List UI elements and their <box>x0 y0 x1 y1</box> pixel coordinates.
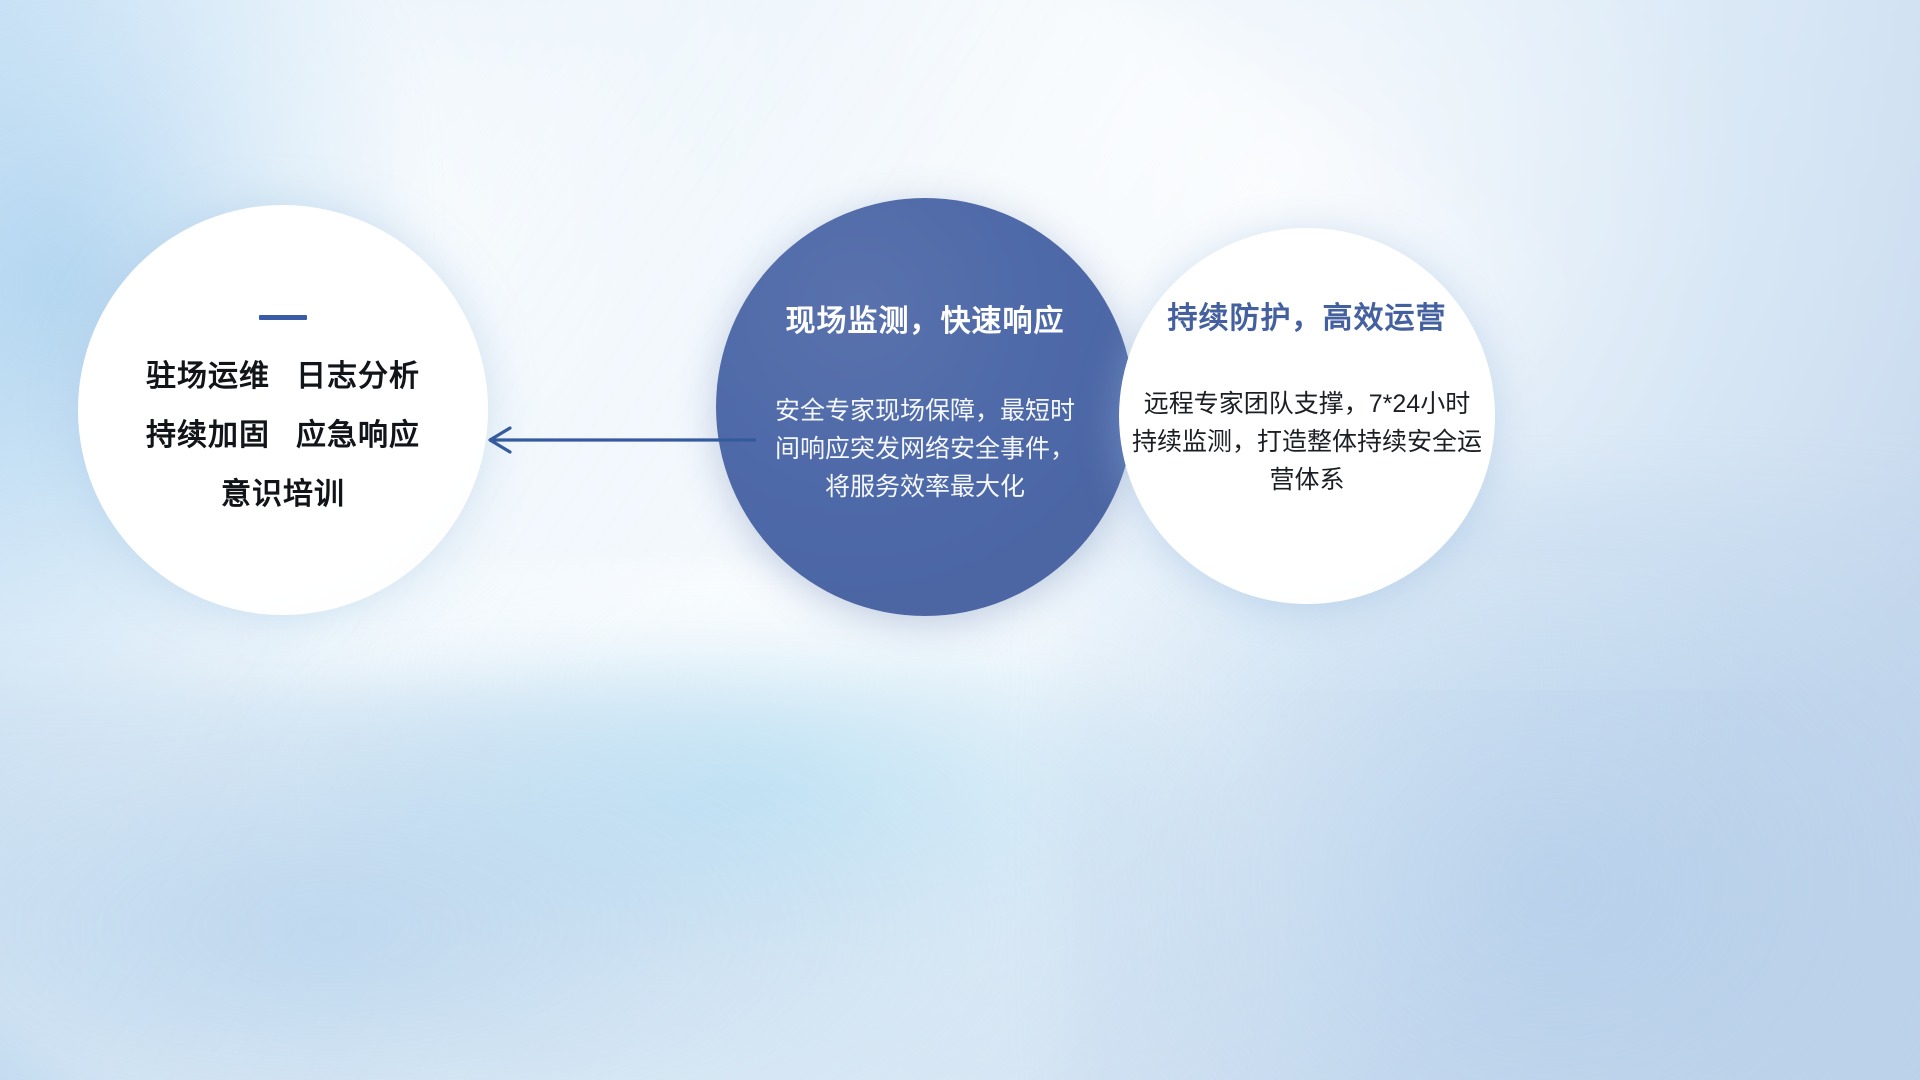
keyword: 应急响应 <box>296 419 420 452</box>
left-circle[interactable]: 驻场运维日志分析 持续加固应急响应 意识培训 <box>78 205 488 615</box>
list-item: 驻场运维日志分析 <box>146 362 420 392</box>
list-item: 意识培训 <box>146 480 420 510</box>
middle-circle-title: 现场监测，快速响应 <box>786 296 1065 340</box>
right-circle-title: 持续防护，高效运营 <box>1168 293 1447 337</box>
keyword: 日志分析 <box>296 360 420 393</box>
diagram-canvas: 现场监测，快速响应 安全专家现场保障，最短时间响应突发网络安全事件，将服务效率最… <box>0 0 1920 1080</box>
right-circle-body: 远程专家团队支撑，7*24小时持续监测，打造整体持续安全运营体系 <box>1132 385 1482 499</box>
keyword: 持续加固 <box>146 419 270 452</box>
keyword: 驻场运维 <box>146 360 270 393</box>
list-item: 持续加固应急响应 <box>146 421 420 451</box>
background-deep-bottom <box>0 680 1240 1080</box>
middle-circle-body: 安全专家现场保障，最短时间响应突发网络安全事件，将服务效率最大化 <box>775 392 1075 506</box>
divider-dash-icon <box>259 315 307 320</box>
middle-circle[interactable]: 现场监测，快速响应 安全专家现场保障，最短时间响应突发网络安全事件，将服务效率最… <box>716 198 1134 616</box>
left-circle-keyword-list: 驻场运维日志分析 持续加固应急响应 意识培训 <box>146 362 420 539</box>
keyword: 意识培训 <box>221 478 345 511</box>
right-circle[interactable]: 持续防护，高效运营 远程专家团队支撑，7*24小时持续监测，打造整体持续安全运营… <box>1119 228 1495 604</box>
